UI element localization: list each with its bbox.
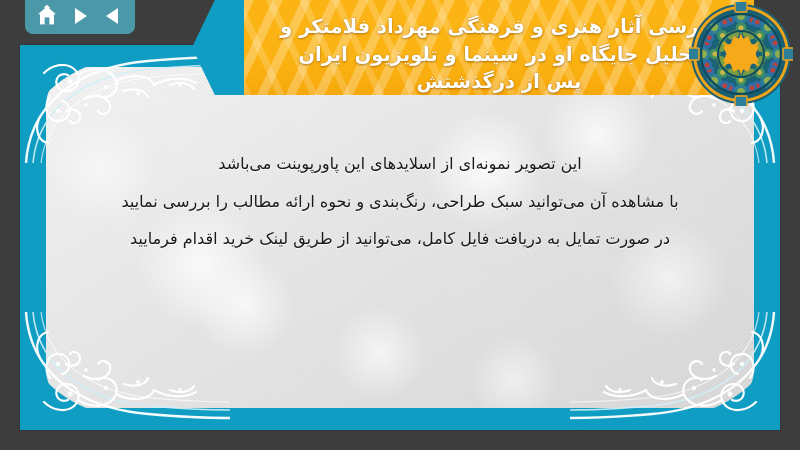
body-line-3: در صورت تمایل به دریافت فایل کامل، می‌تو… <box>66 220 734 258</box>
home-button[interactable] <box>35 4 59 28</box>
home-icon <box>35 4 59 28</box>
slide-body-text: این تصویر نمونه‌ای از اسلایدهای این پاور… <box>66 145 734 258</box>
slide-navigation-bar <box>25 0 135 34</box>
persian-medallion-icon <box>689 2 793 106</box>
banner-ribbon-tail <box>192 0 252 95</box>
title-line-3: پس از درگذشتش <box>280 68 718 96</box>
triangle-right-icon <box>69 5 91 27</box>
previous-button[interactable] <box>101 4 125 28</box>
body-line-1: این تصویر نمونه‌ای از اسلایدهای این پاور… <box>66 145 734 183</box>
next-button[interactable] <box>68 4 92 28</box>
banner-yellow-plate: بررسی آثار هنری و فرهنگی مهرداد فلامتکر … <box>244 0 754 95</box>
slide-canvas: این تصویر نمونه‌ای از اسلایدهای این پاور… <box>20 45 780 430</box>
triangle-left-icon <box>102 5 124 27</box>
slide-viewer: این تصویر نمونه‌ای از اسلایدهای این پاور… <box>0 0 800 450</box>
title-line-1: بررسی آثار هنری و فرهنگی مهرداد فلامتکر … <box>280 13 718 41</box>
slide-title-banner: بررسی آثار هنری و فرهنگی مهرداد فلامتکر … <box>192 0 800 95</box>
page-title: بررسی آثار هنری و فرهنگی مهرداد فلامتکر … <box>280 13 718 96</box>
title-line-2: تحلیل جایگاه او در سینما و تلویزیون ایرا… <box>280 41 718 69</box>
body-line-2: با مشاهده آن می‌توانید سبک طراحی، رنگ‌بن… <box>66 183 734 221</box>
